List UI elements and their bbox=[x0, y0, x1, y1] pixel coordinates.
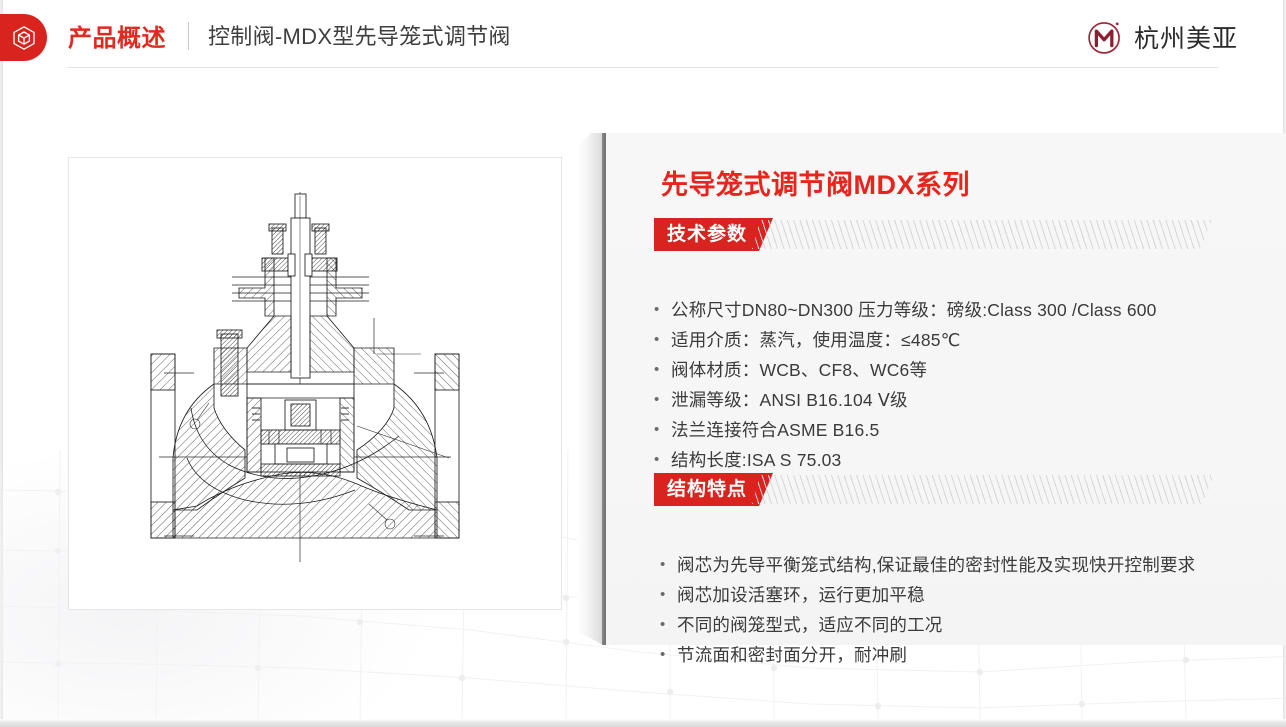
list-item-text: 阀芯为先导平衡笼式结构,保证最佳的密封性能及实现快开控制要求 bbox=[677, 550, 1195, 580]
valve-cross-section-drawing bbox=[68, 157, 562, 610]
panel-body: 先导笼式调节阀MDX系列 技术参数 • 公称尺寸DN80~DN300 压力等级：… bbox=[606, 133, 1286, 645]
list-item-text: 不同的阀笼型式，适应不同的工况 bbox=[677, 610, 943, 640]
bullet-dot: • bbox=[654, 325, 671, 355]
list-item-text: 阀体材质：WCB、CF8、WC6等 bbox=[671, 355, 927, 385]
header-rule bbox=[68, 67, 1218, 68]
list-item: • 法兰连接符合ASME B16.5 bbox=[654, 415, 1286, 445]
section-hatch-decoration bbox=[752, 475, 1214, 504]
panel-title: 先导笼式调节阀MDX系列 bbox=[661, 163, 970, 202]
section-structural-features: 结构特点 • 阀芯为先导平衡笼式结构,保证最佳的密封性能及实现快开控制要求 • … bbox=[654, 473, 1286, 626]
bullet-dot: • bbox=[654, 355, 671, 385]
list-item: • 阀体材质：WCB、CF8、WC6等 bbox=[654, 355, 1286, 385]
list-item-text: 法兰连接符合ASME B16.5 bbox=[671, 415, 879, 445]
section-technical-parameters: 技术参数 • 公称尺寸DN80~DN300 压力等级：磅级:Class 300 … bbox=[654, 218, 1286, 431]
product-overview-page: 产品概述 控制阀-MDX型先导笼式调节阀 杭州美亚 bbox=[0, 0, 1286, 727]
header-divider bbox=[188, 22, 189, 50]
list-item: • 适用介质：蒸汽，使用温度：≤485℃ bbox=[654, 325, 1286, 355]
section-hatch-decoration bbox=[752, 220, 1212, 249]
header-tab-marker bbox=[0, 14, 47, 61]
list-item-text: 阀芯加设活塞环，运行更加平稳 bbox=[677, 580, 925, 610]
circle-m-logo-icon bbox=[1085, 17, 1125, 57]
list-item: • 阀芯加设活塞环，运行更加平稳 bbox=[660, 580, 1286, 610]
bullet-dot: • bbox=[660, 640, 677, 670]
page-border-left bbox=[0, 0, 3, 727]
brand-logo: 杭州美亚 bbox=[1085, 17, 1238, 57]
brand-name: 杭州美亚 bbox=[1134, 19, 1238, 55]
list-item: • 结构长度:ISA S 75.03 bbox=[654, 445, 1286, 475]
list-item-text: 适用介质：蒸汽，使用温度：≤485℃ bbox=[671, 325, 961, 355]
list-item-text: 节流面和密封面分开，耐冲刷 bbox=[677, 640, 907, 670]
bullet-dot: • bbox=[660, 550, 677, 580]
list-item-text: 公称尺寸DN80~DN300 压力等级：磅级:Class 300 /Class … bbox=[671, 295, 1157, 325]
bullet-dot: • bbox=[654, 445, 671, 475]
bullet-dot: • bbox=[654, 295, 671, 325]
list-item-text: 结构长度:ISA S 75.03 bbox=[671, 445, 842, 475]
list-item: • 阀芯为先导平衡笼式结构,保证最佳的密封性能及实现快开控制要求 bbox=[660, 550, 1286, 580]
section-header: 结构特点 bbox=[654, 473, 1286, 506]
panel-fold-bevel bbox=[577, 133, 603, 645]
page-header: 产品概述 控制阀-MDX型先导笼式调节阀 杭州美亚 bbox=[0, 0, 1286, 72]
list-item: • 公称尺寸DN80~DN300 压力等级：磅级:Class 300 /Clas… bbox=[654, 295, 1286, 325]
list-item-text: 泄漏等级：ANSI B16.104 Ⅴ级 bbox=[671, 385, 908, 415]
bullet-dot: • bbox=[654, 385, 671, 415]
page-title: 产品概述 bbox=[68, 18, 166, 53]
list-item: • 节流面和密封面分开，耐冲刷 bbox=[660, 640, 1286, 670]
list-item: • 泄漏等级：ANSI B16.104 Ⅴ级 bbox=[654, 385, 1286, 415]
page-border-bottom bbox=[0, 719, 1286, 727]
list-item: • 不同的阀笼型式，适应不同的工况 bbox=[660, 610, 1286, 640]
section-header: 技术参数 bbox=[654, 218, 1286, 251]
bullet-dot: • bbox=[660, 580, 677, 610]
bullet-dot: • bbox=[660, 610, 677, 640]
technical-parameter-list: • 公称尺寸DN80~DN300 压力等级：磅级:Class 300 /Clas… bbox=[654, 295, 1286, 475]
page-subtitle: 控制阀-MDX型先导笼式调节阀 bbox=[208, 19, 511, 51]
bullet-dot: • bbox=[654, 415, 671, 445]
product-detail-panel: 先导笼式调节阀MDX系列 技术参数 • 公称尺寸DN80~DN300 压力等级：… bbox=[577, 133, 1286, 645]
structural-feature-list: • 阀芯为先导平衡笼式结构,保证最佳的密封性能及实现快开控制要求 • 阀芯加设活… bbox=[660, 550, 1286, 670]
cube-hexagon-icon bbox=[11, 25, 37, 51]
